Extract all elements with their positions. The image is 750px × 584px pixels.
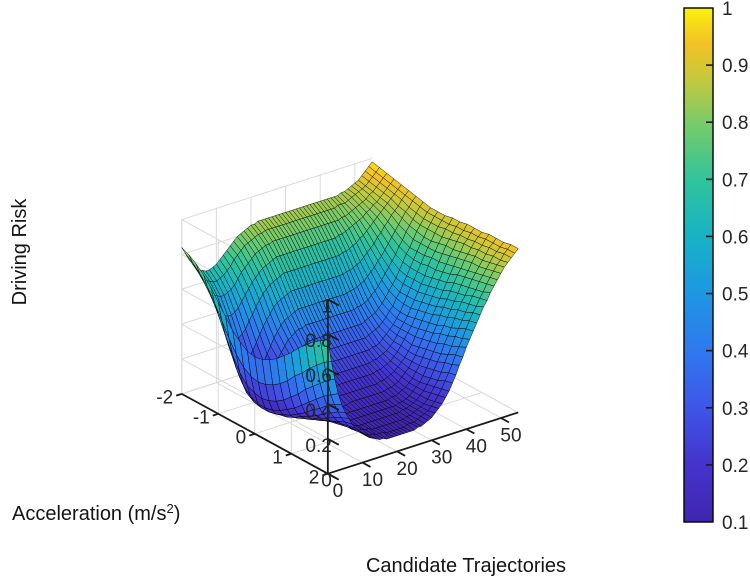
colorbar-tick-label: 0.6 [722, 227, 748, 248]
z-tick-label: 0 [321, 471, 332, 492]
y-tick-label: 1 [272, 448, 283, 469]
y-tick-label: 2 [309, 467, 320, 488]
y-tick-label: 0 [236, 428, 247, 449]
x-tick-label: 30 [431, 448, 452, 469]
z-tick-label: 0.6 [305, 366, 331, 387]
colorbar-tick-label: 0.2 [722, 456, 748, 477]
colorbar-tick-label: 0.5 [722, 285, 748, 306]
z-tick-label: 1 [321, 296, 332, 317]
x-tick-label: 0 [333, 481, 344, 502]
y-tick-label: -2 [156, 388, 173, 409]
y-axis-label: Acceleration (m/s2) [12, 501, 180, 526]
z-tick-label: 0.2 [305, 436, 331, 457]
y-tick-label: -1 [193, 408, 210, 429]
x-axis-label: Candidate Trajectories [366, 555, 566, 577]
surface-plot-svg: 01020304050210-1-200.20.40.60.81 Driving… [0, 0, 750, 584]
colorbar-tick-label: 0.7 [722, 170, 748, 191]
x-tick-label: 20 [397, 459, 418, 480]
colorbar-tick-label: 0.3 [722, 399, 748, 420]
x-tick-label: 10 [362, 470, 383, 491]
z-tick-label: 0.4 [305, 401, 332, 422]
colorbar-tick-label: 0.4 [722, 342, 749, 363]
z-tick-label: 0.8 [305, 331, 331, 352]
colorbar-gradient[interactable] [684, 8, 713, 522]
colorbar-tick-label: 0.8 [722, 113, 748, 134]
matlab-figure: 01020304050210-1-200.20.40.60.81 Driving… [0, 0, 750, 584]
colorbar-tick-label: 0.1 [722, 513, 748, 534]
x-tick-label: 40 [466, 437, 487, 458]
colorbar-tick-label: 1 [722, 0, 733, 20]
z-axis-label: Driving Risk [9, 198, 31, 306]
colorbar-tick-label: 0.9 [722, 56, 748, 77]
x-tick-label: 50 [500, 425, 521, 446]
